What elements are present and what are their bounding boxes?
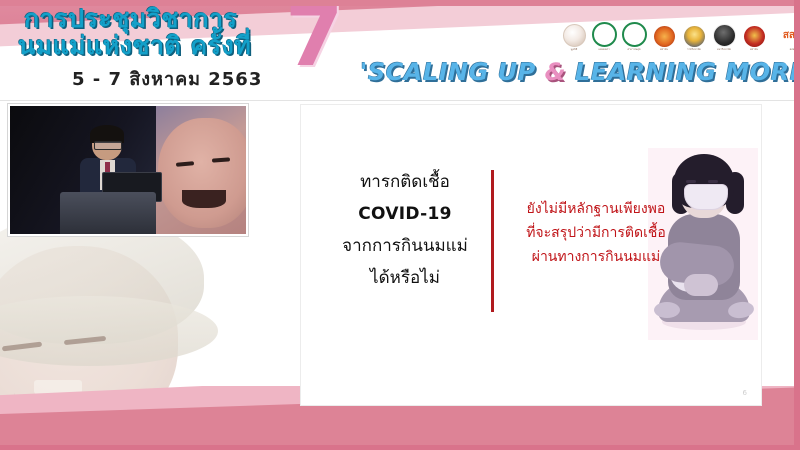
temple-emblem-icon — [654, 26, 675, 47]
logo-caption: แพทยสภา — [592, 48, 616, 51]
question-line: จากการกินนมแม่ — [325, 230, 485, 262]
projected-baby-mouth — [182, 190, 226, 208]
question-line: ได้หรือไม่ — [325, 262, 485, 294]
logo-caption: สถาบัน — [652, 48, 676, 51]
title-line-2: นมแม่แห่งชาติ ครั้งที่ — [18, 31, 318, 61]
answer-text: ยังไม่มีหลักฐานเพียงพอ ที่จะสรุปว่ามีการ… — [498, 197, 694, 269]
logo-caption: มหาวิทยาลัย — [712, 48, 736, 51]
mother-hand — [684, 274, 718, 296]
frame-border-top — [0, 0, 800, 6]
slogan-part-1: 'SCALING UP — [360, 58, 545, 86]
question-text: ทารกติดเชื้อ COVID-19 จากการกินนมแม่ ได้… — [325, 166, 485, 294]
slogan-ampersand: & — [545, 58, 566, 86]
royal-crest-logo: ราชวิทยาลัย — [682, 26, 706, 51]
medical-council-logo: แพทยสภา — [592, 22, 616, 51]
logo-caption: ราชวิทยาลัย — [682, 48, 706, 51]
speaker-glasses-icon — [94, 141, 122, 150]
frame-border-bottom — [0, 445, 800, 450]
conference-title: การประชุมวิชาการ นมแม่แห่งชาติ ครั้งที่ … — [18, 4, 318, 93]
question-line: ทารกติดเชื้อ — [325, 166, 485, 198]
conference-speaker-video-thumbnail[interactable] — [8, 104, 248, 236]
logo-caption: มูลนิธิ — [562, 48, 586, 51]
mother-foot-left — [654, 302, 680, 318]
mother-eye-right — [708, 180, 718, 183]
slogan-part-2: LEARNING MORE' — [566, 58, 800, 86]
logo-caption: สาธารณสุข — [622, 48, 646, 51]
answer-line: ผ่านทางการกินนมแม่ — [498, 245, 694, 269]
health-ministry-logo: สาธารณสุข — [622, 22, 646, 51]
header-divider-line — [0, 100, 800, 101]
health-ministry-icon — [622, 22, 647, 47]
answer-line: ที่จะสรุปว่ามีการติดเชื้อ — [498, 221, 694, 245]
medical-council-icon — [592, 22, 617, 47]
mother-eye-left — [686, 180, 696, 183]
university-seal-icon — [713, 24, 736, 47]
conference-slogan: 'SCALING UP & LEARNING MORE' — [360, 58, 790, 86]
question-line: COVID-19 — [325, 198, 485, 230]
podium — [60, 192, 156, 234]
frame-border-right — [794, 0, 800, 450]
university-seal-logo: มหาวิทยาลัย — [712, 24, 736, 51]
title-line-1: การประชุมวิชาการ — [24, 4, 318, 34]
answer-line: ยังไม่มีหลักฐานเพียงพอ — [498, 197, 694, 221]
conference-date: 5 - 7 สิงหาคม 2563 — [72, 64, 318, 93]
royal-crest-icon — [684, 26, 705, 47]
vertical-divider — [491, 170, 494, 312]
royal-emblem-logo: มูลนิธิ — [562, 24, 586, 51]
projected-baby-face — [158, 118, 248, 228]
red-crest-logo: สถาบัน — [742, 26, 766, 51]
royal-emblem-icon — [563, 24, 586, 47]
logo-caption: สถาบัน — [742, 48, 766, 51]
temple-emblem-logo: สถาบัน — [652, 26, 676, 51]
sponsor-logo-row: มูลนิธิ แพทยสภา สาธารณสุข สถาบัน ราชวิทย… — [562, 22, 800, 51]
slide-number: 6 — [743, 389, 747, 397]
red-crest-icon — [744, 26, 765, 47]
presentation-slide: 7 การประชุมวิชาการ นมแม่แห่งชาติ ครั้งที… — [0, 0, 800, 450]
